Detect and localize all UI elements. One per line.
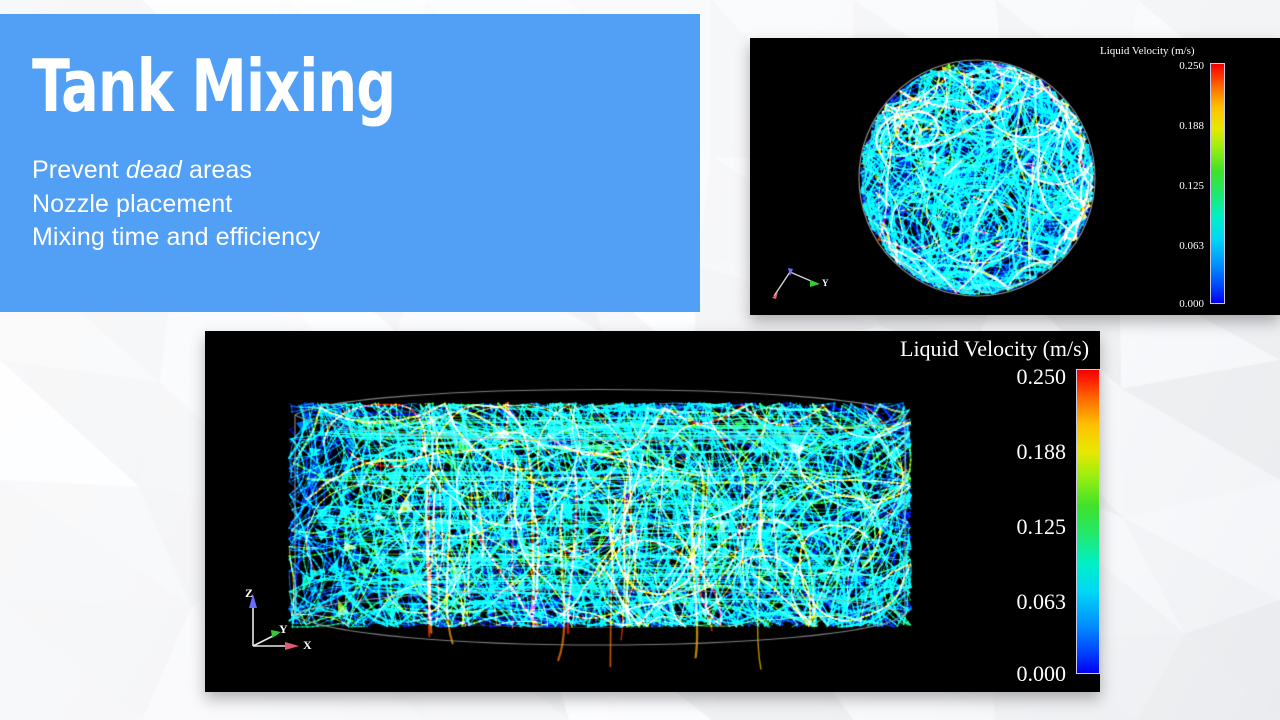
axis-label-y: Y bbox=[279, 622, 288, 637]
bullet-text-before: Nozzle placement bbox=[32, 190, 232, 218]
axis-triad-side-view: Z Y X bbox=[241, 586, 321, 656]
page-title: Tank Mixing bbox=[32, 52, 606, 120]
colorbar-gradient bbox=[1076, 369, 1100, 674]
legend-tick: 0.063 bbox=[1017, 589, 1067, 615]
axis-label-z: Z bbox=[245, 586, 253, 601]
colorbar-gradient bbox=[1210, 63, 1225, 304]
list-item: Prevent dead areas bbox=[32, 154, 700, 187]
legend-tick: 0.188 bbox=[1017, 439, 1067, 465]
legend-tick-group: 0.250 0.188 0.125 0.063 0.000 bbox=[1100, 60, 1204, 305]
list-item: Mixing time and efficiency bbox=[32, 221, 700, 254]
axis-label-y: Y bbox=[822, 278, 829, 288]
legend-title: Liquid Velocity (m/s) bbox=[900, 336, 1089, 362]
legend-tick: 0.250 bbox=[1179, 60, 1204, 72]
legend-tick: 0.188 bbox=[1179, 120, 1204, 132]
list-item: Nozzle placement bbox=[32, 188, 700, 221]
title-panel: Tank Mixing Prevent dead areas Nozzle pl… bbox=[0, 14, 700, 312]
cfd-image-side-view: Liquid Velocity (m/s) 0.250 0.188 0.125 … bbox=[205, 331, 1100, 692]
bullet-text-before: Prevent bbox=[32, 156, 126, 184]
legend-tick: 0.250 bbox=[1017, 364, 1067, 390]
axis-triad-top-view: Y bbox=[766, 262, 836, 304]
bullet-emphasis: dead bbox=[126, 156, 182, 184]
legend-title: Liquid Velocity (m/s) bbox=[1100, 45, 1195, 57]
legend-tick: 0.000 bbox=[1017, 661, 1067, 687]
legend-tick: 0.125 bbox=[1179, 180, 1204, 192]
axis-label-x: X bbox=[303, 638, 312, 653]
legend-tick-group: 0.250 0.188 0.125 0.063 0.000 bbox=[900, 364, 1066, 672]
bullet-text-after: areas bbox=[182, 156, 252, 184]
bullet-list: Prevent dead areas Nozzle placement Mixi… bbox=[32, 154, 700, 254]
legend-tick: 0.125 bbox=[1017, 514, 1067, 540]
bullet-text-before: Mixing time and efficiency bbox=[32, 223, 320, 251]
legend-tick: 0.000 bbox=[1179, 298, 1204, 310]
cfd-image-top-view: Liquid Velocity (m/s) 0.250 0.188 0.125 … bbox=[750, 38, 1280, 315]
legend-tick: 0.063 bbox=[1179, 240, 1204, 252]
